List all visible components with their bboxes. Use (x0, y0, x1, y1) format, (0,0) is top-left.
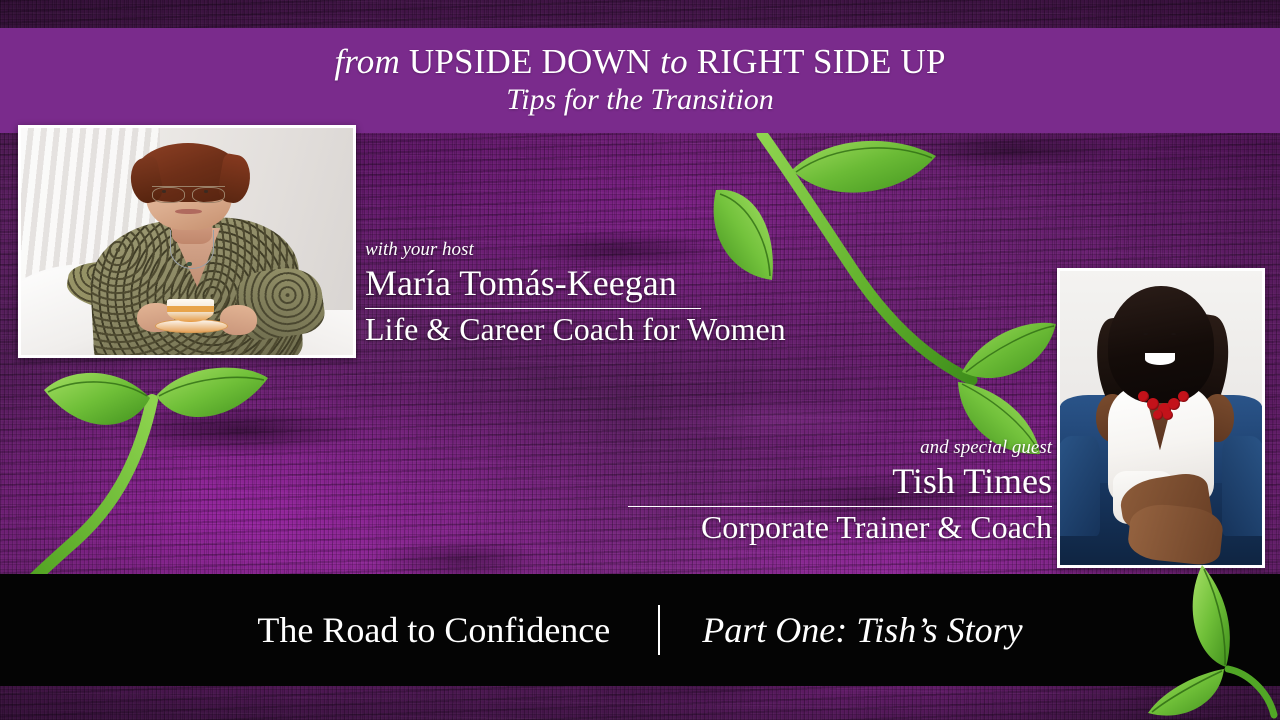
page-title: from UPSIDE DOWN to RIGHT SIDE UP (334, 43, 945, 81)
guest-photo-sofa-arm-right (1222, 436, 1262, 536)
guest-photo-hair (1108, 286, 1213, 404)
host-photo-necklace (170, 230, 213, 269)
host-photo-glasses (152, 186, 225, 201)
host-photo-eye-left (162, 190, 166, 192)
series-title: The Road to Confidence (257, 612, 610, 648)
guest-photo (1057, 268, 1265, 568)
host-photo-hand-right (220, 305, 257, 335)
host-photo-pendant (187, 262, 192, 267)
footer-separator (658, 605, 660, 655)
footer-bar: The Road to Confidence Part One: Tish’s … (0, 574, 1280, 686)
video-title-card: from UPSIDE DOWN to RIGHT SIDE UP Tips f… (0, 0, 1280, 720)
necklace-bead (1163, 410, 1173, 420)
title-word-two: RIGHT SIDE UP (697, 42, 946, 81)
guest-role: Corporate Trainer & Coach (560, 508, 1052, 547)
page-subtitle: Tips for the Transition (506, 83, 774, 118)
guest-photo-inner (1060, 271, 1262, 565)
host-photo-eye-right (204, 190, 208, 192)
necklace-bead (1178, 391, 1189, 402)
host-photo-inner (21, 128, 353, 355)
guest-photo-necklace (1135, 390, 1188, 425)
necklace-bead (1153, 410, 1163, 420)
episode-title: Part One: Tish’s Story (702, 612, 1022, 648)
header-band: from UPSIDE DOWN to RIGHT SIDE UP Tips f… (0, 28, 1280, 133)
host-name: María Tomás-Keegan (365, 262, 786, 305)
guest-divider (628, 506, 1052, 508)
host-role: Life & Career Coach for Women (365, 310, 786, 349)
host-kicker: with your host (365, 238, 786, 262)
host-photo (18, 125, 356, 358)
title-word-one: UPSIDE DOWN (409, 42, 660, 81)
title-middle: to (660, 42, 697, 81)
guest-photo-smile (1145, 353, 1175, 365)
guest-credit-block: and special guest Tish Times Corporate T… (560, 436, 1052, 547)
host-credit-block: with your host María Tomás-Keegan Life &… (365, 238, 786, 349)
title-prefix: from (334, 42, 409, 81)
host-photo-teacup-band (167, 306, 213, 311)
guest-photo-sofa-arm-left (1060, 436, 1100, 536)
guest-kicker: and special guest (560, 436, 1052, 460)
host-divider (365, 308, 701, 310)
guest-name: Tish Times (560, 460, 1052, 503)
